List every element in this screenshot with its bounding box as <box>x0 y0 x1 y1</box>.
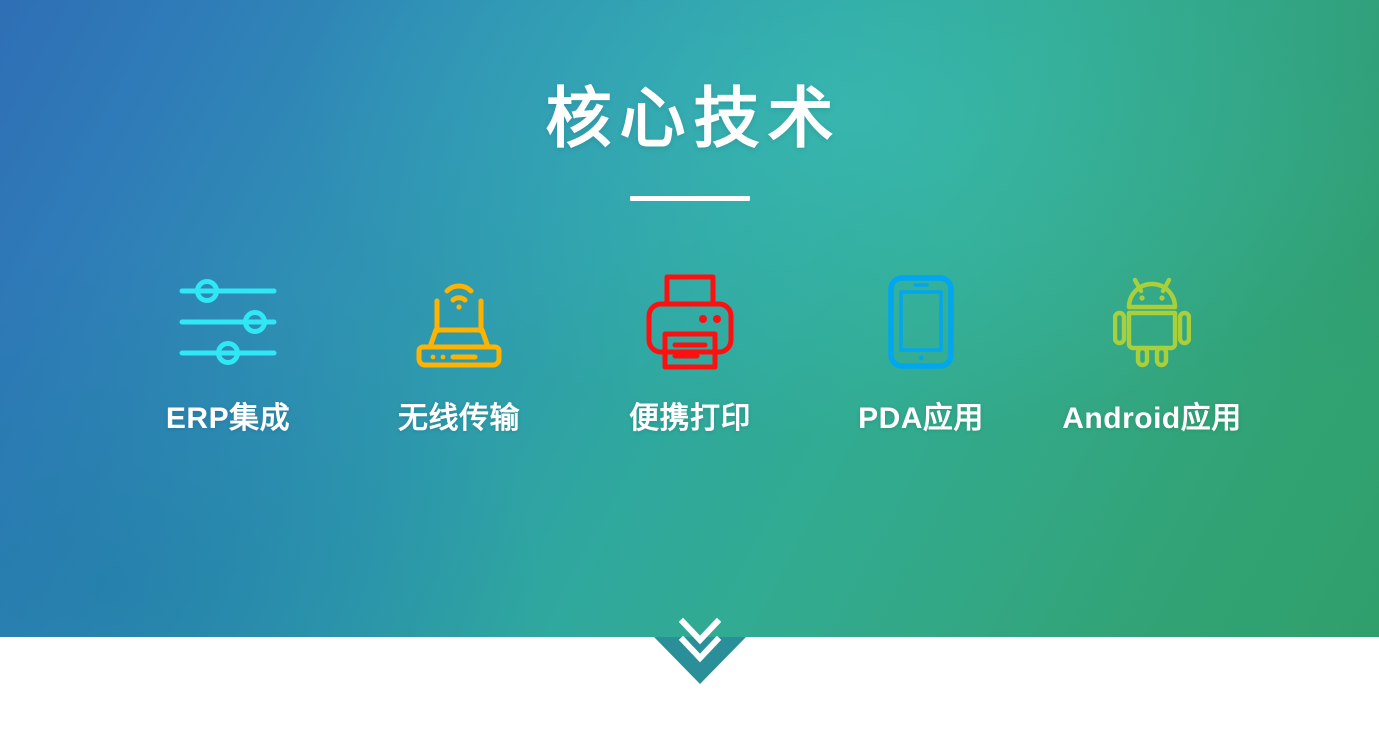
feature-item-printer[interactable]: 便携打印 <box>582 270 798 438</box>
double-chevron-down-icon[interactable] <box>654 612 746 668</box>
feature-label-printer: 便携打印 <box>629 400 751 438</box>
sliders-icon <box>178 270 278 374</box>
feature-item-pda[interactable]: PDA应用 <box>813 270 1029 438</box>
hero-banner: 核心技术 <box>0 0 1379 637</box>
feature-list: ERP集成 <box>120 270 1260 438</box>
feature-item-erp[interactable]: ERP集成 <box>120 270 336 438</box>
feature-label-pda: PDA应用 <box>858 400 984 438</box>
feature-item-android[interactable]: Android应用 <box>1044 270 1260 438</box>
page-title: 核心技术 <box>0 78 1379 158</box>
feature-item-wireless[interactable]: 无线传输 <box>351 270 567 438</box>
title-divider <box>630 196 750 201</box>
page-root: 核心技术 <box>0 0 1379 755</box>
wireless-router-icon <box>411 270 507 374</box>
android-robot-icon <box>1113 270 1191 374</box>
title-block: 核心技术 <box>0 78 1379 201</box>
feature-label-erp: ERP集成 <box>166 400 290 438</box>
tablet-pda-icon <box>887 270 955 374</box>
printer-icon <box>644 270 736 374</box>
feature-label-android: Android应用 <box>1062 400 1241 438</box>
feature-label-wireless: 无线传输 <box>398 400 520 438</box>
